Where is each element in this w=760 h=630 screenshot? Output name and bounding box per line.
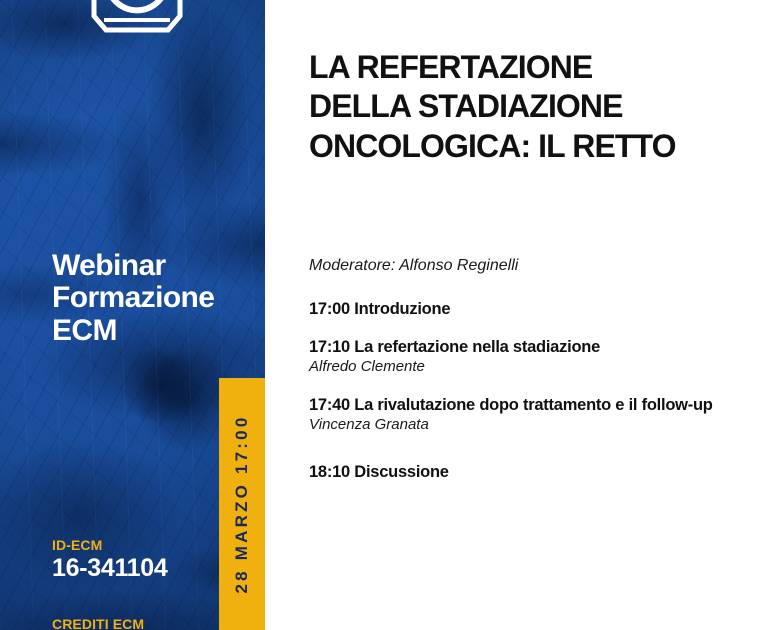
- panel-heading-line-2: Formazione: [52, 282, 252, 314]
- program-item: 18:10 Discussione: [309, 462, 729, 482]
- crediti-ecm-label: CREDITI ECM: [52, 616, 144, 630]
- panel-heading: Webinar Formazione ECM: [52, 250, 252, 347]
- program-item-speaker: Alfredo Clemente: [309, 358, 729, 377]
- program-item-title: 17:00 Introduzione: [309, 299, 729, 319]
- page-title: LA REFERTAZIONE DELLA STADIAZIONE ONCOLO…: [309, 48, 739, 166]
- page-title-line-2: DELLA STADIAZIONE: [309, 87, 739, 126]
- webinar-poster: Webinar Formazione ECM ID-ECM 16-341104 …: [0, 0, 760, 630]
- program-schedule: Moderatore: Alfonso Reginelli 17:00 Intr…: [309, 256, 729, 500]
- program-item: 17:10 La refertazione nella stadiazione …: [309, 337, 729, 377]
- program-item: 17:00 Introduzione: [309, 299, 729, 319]
- page-title-line-1: LA REFERTAZIONE: [309, 48, 739, 87]
- program-item-speaker: Vincenza Granata: [309, 416, 729, 435]
- program-item-title: 17:10 La refertazione nella stadiazione: [309, 337, 729, 357]
- program-item-title: 17:40 La rivalutazione dopo trattamento …: [309, 395, 729, 415]
- panel-heading-line-3: ECM: [52, 315, 252, 347]
- date-banner: 28 MARZO 17:00: [219, 378, 265, 630]
- date-banner-text: 28 MARZO 17:00: [232, 415, 252, 594]
- id-ecm-block: ID-ECM 16-341104: [52, 538, 242, 583]
- page-title-line-3: ONCOLOGICA: IL RETTO: [309, 127, 739, 166]
- id-ecm-value: 16-341104: [52, 554, 242, 583]
- program-item: 17:40 La rivalutazione dopo trattamento …: [309, 395, 729, 435]
- moderator-line: Moderatore: Alfonso Reginelli: [309, 256, 729, 277]
- main-content-area: LA REFERTAZIONE DELLA STADIAZIONE ONCOLO…: [265, 0, 760, 630]
- ecm-badge-logo: [78, 0, 196, 64]
- panel-heading-line-1: Webinar: [52, 250, 252, 282]
- program-item-title: 18:10 Discussione: [309, 462, 729, 482]
- id-ecm-label: ID-ECM: [52, 538, 242, 553]
